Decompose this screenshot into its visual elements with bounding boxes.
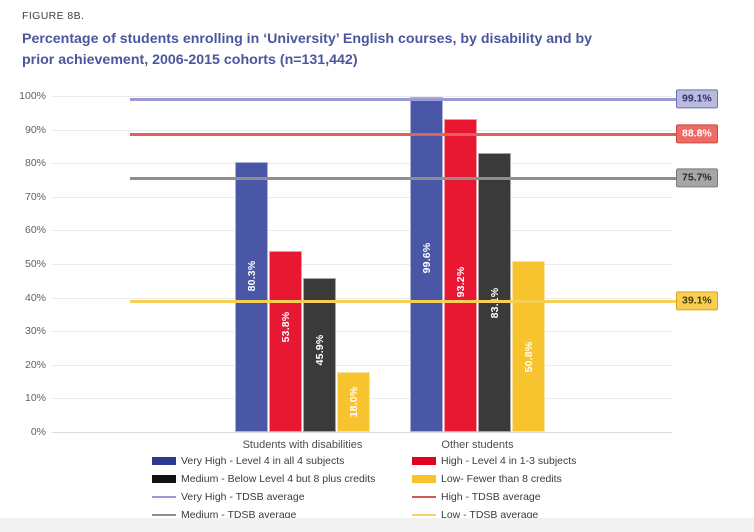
bar[interactable]: 99.6% (410, 97, 443, 432)
reference-line (130, 177, 676, 180)
legend-item[interactable]: High - Level 4 in 1-3 subjects (412, 452, 576, 470)
bar-value-label: 80.3% (246, 260, 258, 291)
reference-line-value-badge: 99.1% (676, 89, 718, 108)
legend-item-label: High - Level 4 in 1-3 subjects (441, 456, 576, 467)
legend-item[interactable]: Medium - Below Level 4 but 8 plus credit… (152, 470, 375, 488)
legend-item-label: Medium - Below Level 4 but 8 plus credit… (181, 474, 375, 485)
legend-item[interactable]: High - TDSB average (412, 488, 576, 506)
x-axis-category-label: Students with disabilities (243, 439, 363, 451)
gridline-50% (52, 264, 672, 265)
legend-item-label: Very High - TDSB average (181, 492, 305, 503)
bar-value-label: 93.2% (455, 266, 467, 297)
gridline-30% (52, 331, 672, 332)
bar[interactable]: 80.3% (235, 162, 268, 432)
reference-line-value-badge: 88.8% (676, 124, 718, 143)
legend-item[interactable]: Very High - Level 4 in all 4 subjects (152, 452, 375, 470)
gridline-40% (52, 298, 672, 299)
y-axis-tick-90%: 90% (0, 124, 46, 136)
legend-item[interactable]: Very High - TDSB average (152, 488, 375, 506)
y-axis-tick-20%: 20% (0, 359, 46, 371)
legend-line-icon (152, 514, 176, 516)
reference-line-value-badge: 75.7% (676, 168, 718, 187)
chart-legend: Very High - Level 4 in all 4 subjectsMed… (0, 452, 754, 524)
legend-swatch-icon (412, 475, 436, 483)
figure-header: FIGURE 8B. Percentage of students enroll… (0, 0, 754, 70)
bar-value-label: 18.0% (348, 386, 360, 417)
reference-line (130, 300, 676, 303)
bar[interactable]: 50.8% (512, 261, 545, 432)
chart-container: 0%10%20%30%40%50%60%70%80%90%100% 80.3%5… (0, 84, 754, 448)
bar-value-label: 50.8% (523, 341, 535, 372)
legend-column-right: High - Level 4 in 1-3 subjectsLow- Fewer… (412, 452, 576, 524)
figure-number-label: FIGURE 8B. (22, 10, 738, 22)
legend-line-icon (412, 514, 436, 516)
legend-column-left: Very High - Level 4 in all 4 subjectsMed… (152, 452, 375, 524)
y-axis-tick-40%: 40% (0, 292, 46, 304)
y-axis-tick-70%: 70% (0, 191, 46, 203)
bar-value-label: 45.9% (314, 335, 326, 366)
legend-item-label: Very High - Level 4 in all 4 subjects (181, 456, 344, 467)
legend-item-label: High - TDSB average (441, 492, 541, 503)
gridline-100% (52, 96, 672, 97)
legend-line-icon (152, 496, 176, 498)
legend-item[interactable]: Low- Fewer than 8 credits (412, 470, 576, 488)
legend-swatch-icon (152, 475, 176, 483)
bar-value-label: 53.8% (280, 312, 292, 343)
gridline-80% (52, 163, 672, 164)
y-axis-tick-80%: 80% (0, 157, 46, 169)
gridline-60% (52, 230, 672, 231)
bar[interactable]: 83.1% (478, 153, 511, 432)
bar[interactable]: 93.2% (444, 119, 477, 432)
plot-area: 80.3%53.8%45.9%18.0%Students with disabi… (52, 96, 672, 432)
y-axis-tick-60%: 60% (0, 224, 46, 236)
reference-line (130, 133, 676, 136)
y-axis-tick-50%: 50% (0, 258, 46, 270)
gridline-90% (52, 130, 672, 131)
bar[interactable]: 18.0% (337, 372, 370, 432)
bar-value-label: 99.6% (421, 243, 433, 274)
y-axis-tick-0%: 0% (0, 426, 46, 438)
page-title: Percentage of students enrolling in ‘Uni… (22, 29, 622, 70)
y-axis-tick-labels: 0%10%20%30%40%50%60%70%80%90%100% (0, 96, 46, 432)
y-axis-tick-100%: 100% (0, 90, 46, 102)
gridline-0% (52, 432, 672, 433)
bar-value-label: 83.1% (489, 288, 501, 319)
reference-line (130, 98, 676, 101)
y-axis-tick-10%: 10% (0, 392, 46, 404)
gridline-70% (52, 197, 672, 198)
legend-line-icon (412, 496, 436, 498)
reference-line-value-badge: 39.1% (676, 291, 718, 310)
footer-divider (0, 518, 754, 532)
gridline-20% (52, 365, 672, 366)
bar[interactable]: 53.8% (269, 251, 302, 432)
legend-swatch-icon (152, 457, 176, 465)
y-axis-tick-30%: 30% (0, 325, 46, 337)
legend-item-label: Low- Fewer than 8 credits (441, 474, 562, 485)
x-axis-category-label: Other students (441, 439, 513, 451)
legend-swatch-icon (412, 457, 436, 465)
